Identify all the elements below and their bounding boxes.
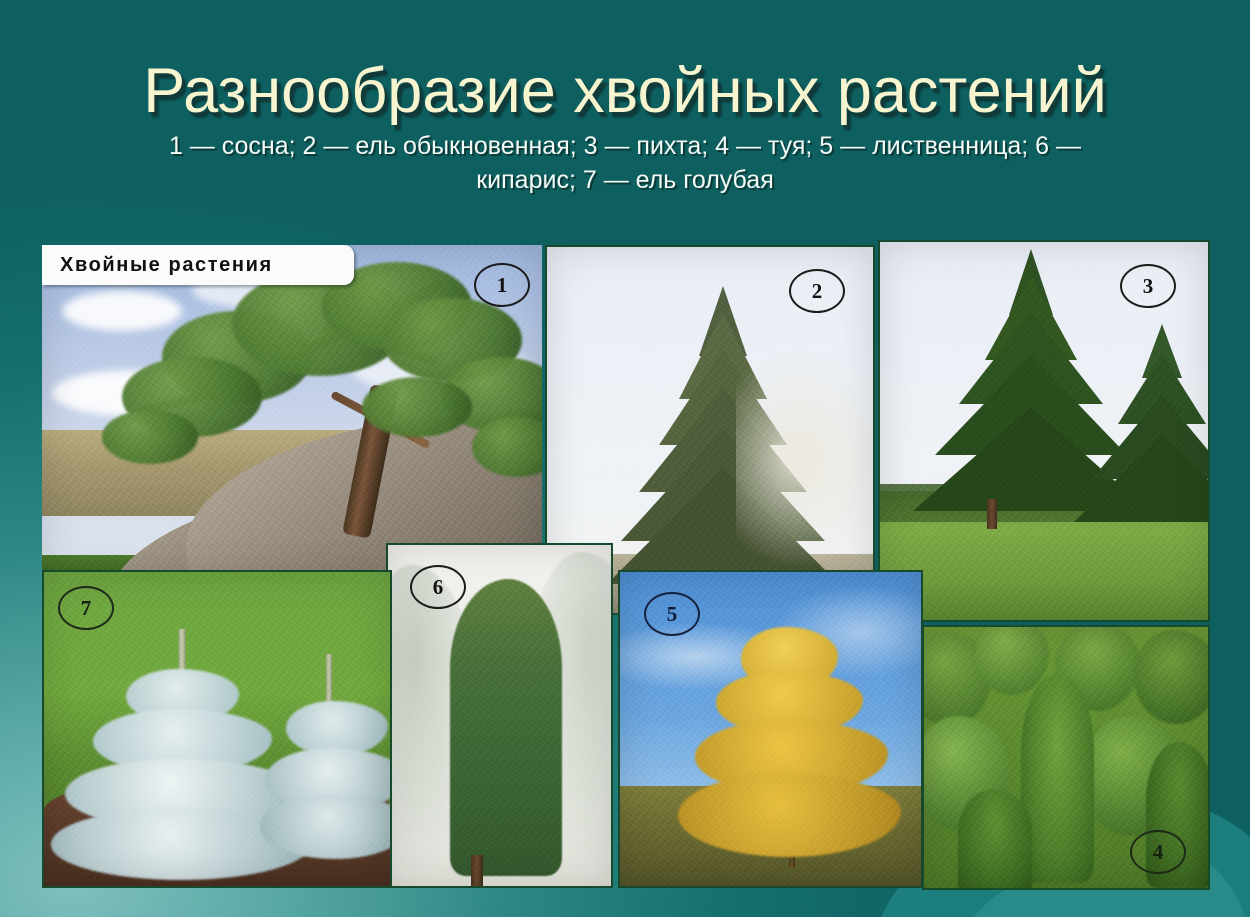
panel-number-1: 1	[474, 263, 530, 307]
pine-foliage	[102, 410, 198, 464]
thuja-bush	[1134, 630, 1208, 724]
photo-panel-fir[interactable]: 3	[878, 240, 1210, 622]
panel-number-4: 4	[1130, 830, 1186, 874]
collage-title-text: Хвойные растения	[42, 254, 273, 277]
panel-number-6: 6	[410, 565, 466, 609]
slide-canvas: Разнообразие хвойных растений 1 — сосна;…	[0, 0, 1250, 917]
fir-trunk	[987, 499, 997, 529]
spruce-whorl	[260, 795, 390, 859]
cypress-column	[450, 579, 562, 876]
photo-panel-pine[interactable]: Хвойные растения 1	[42, 245, 542, 575]
panel-number-5: 5	[644, 592, 700, 636]
photo-panel-larch[interactable]: 5	[618, 570, 923, 888]
cloud	[62, 291, 182, 331]
panel-number-2: 2	[789, 269, 845, 313]
blue-spruce-tree-secondary	[265, 654, 390, 868]
photo-panel-thuja[interactable]: 4	[922, 625, 1210, 890]
haze	[736, 349, 873, 569]
pine-foliage	[362, 377, 472, 437]
cypress-trunk	[471, 855, 483, 886]
image-collage: Хвойные растения 1	[0, 0, 1250, 917]
fir-tree-secondary	[1077, 310, 1208, 522]
collage-title-chip: Хвойные растения	[42, 245, 354, 285]
panel-number-7: 7	[58, 586, 114, 630]
photo-panel-blue-spruce[interactable]: 7	[42, 570, 392, 888]
larch-tree	[686, 622, 897, 867]
pine-scene	[42, 245, 542, 575]
panel-number-3: 3	[1120, 264, 1176, 308]
thuja-column	[958, 789, 1032, 888]
larch-foliage	[678, 774, 901, 857]
photo-panel-cypress[interactable]: 6	[386, 543, 613, 888]
